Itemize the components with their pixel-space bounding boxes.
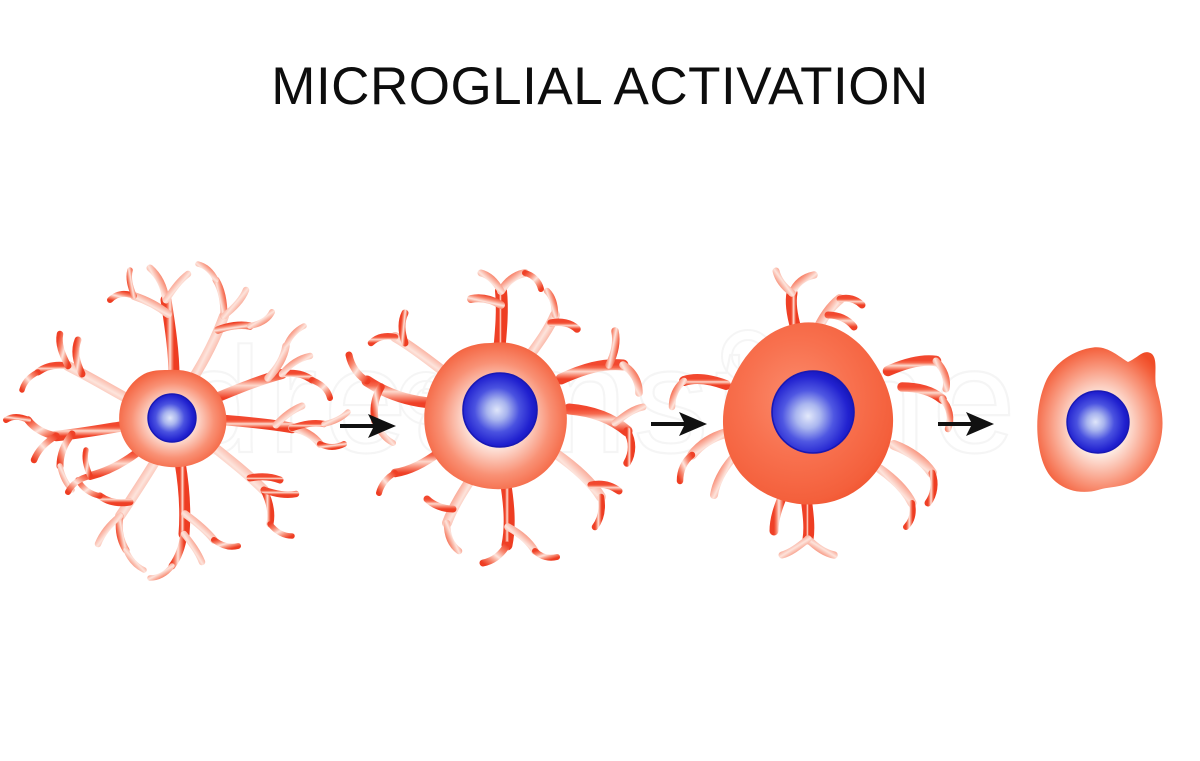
stage-4-nucleus — [1067, 391, 1129, 453]
watermark: dreamstime ® — [178, 316, 1022, 484]
microglial-activation-diagram: dreamstime ® — [0, 0, 1200, 761]
svg-text:dreamstime: dreamstime — [178, 316, 1022, 484]
illustration-canvas: MICROGLIAL ACTIVATION — [0, 0, 1200, 761]
stage-3-nucleus — [772, 371, 854, 453]
stage-2-nucleus — [463, 373, 537, 447]
stage-4-phagocytic-microglia — [1037, 347, 1162, 492]
stage-1-nucleus — [148, 394, 196, 442]
